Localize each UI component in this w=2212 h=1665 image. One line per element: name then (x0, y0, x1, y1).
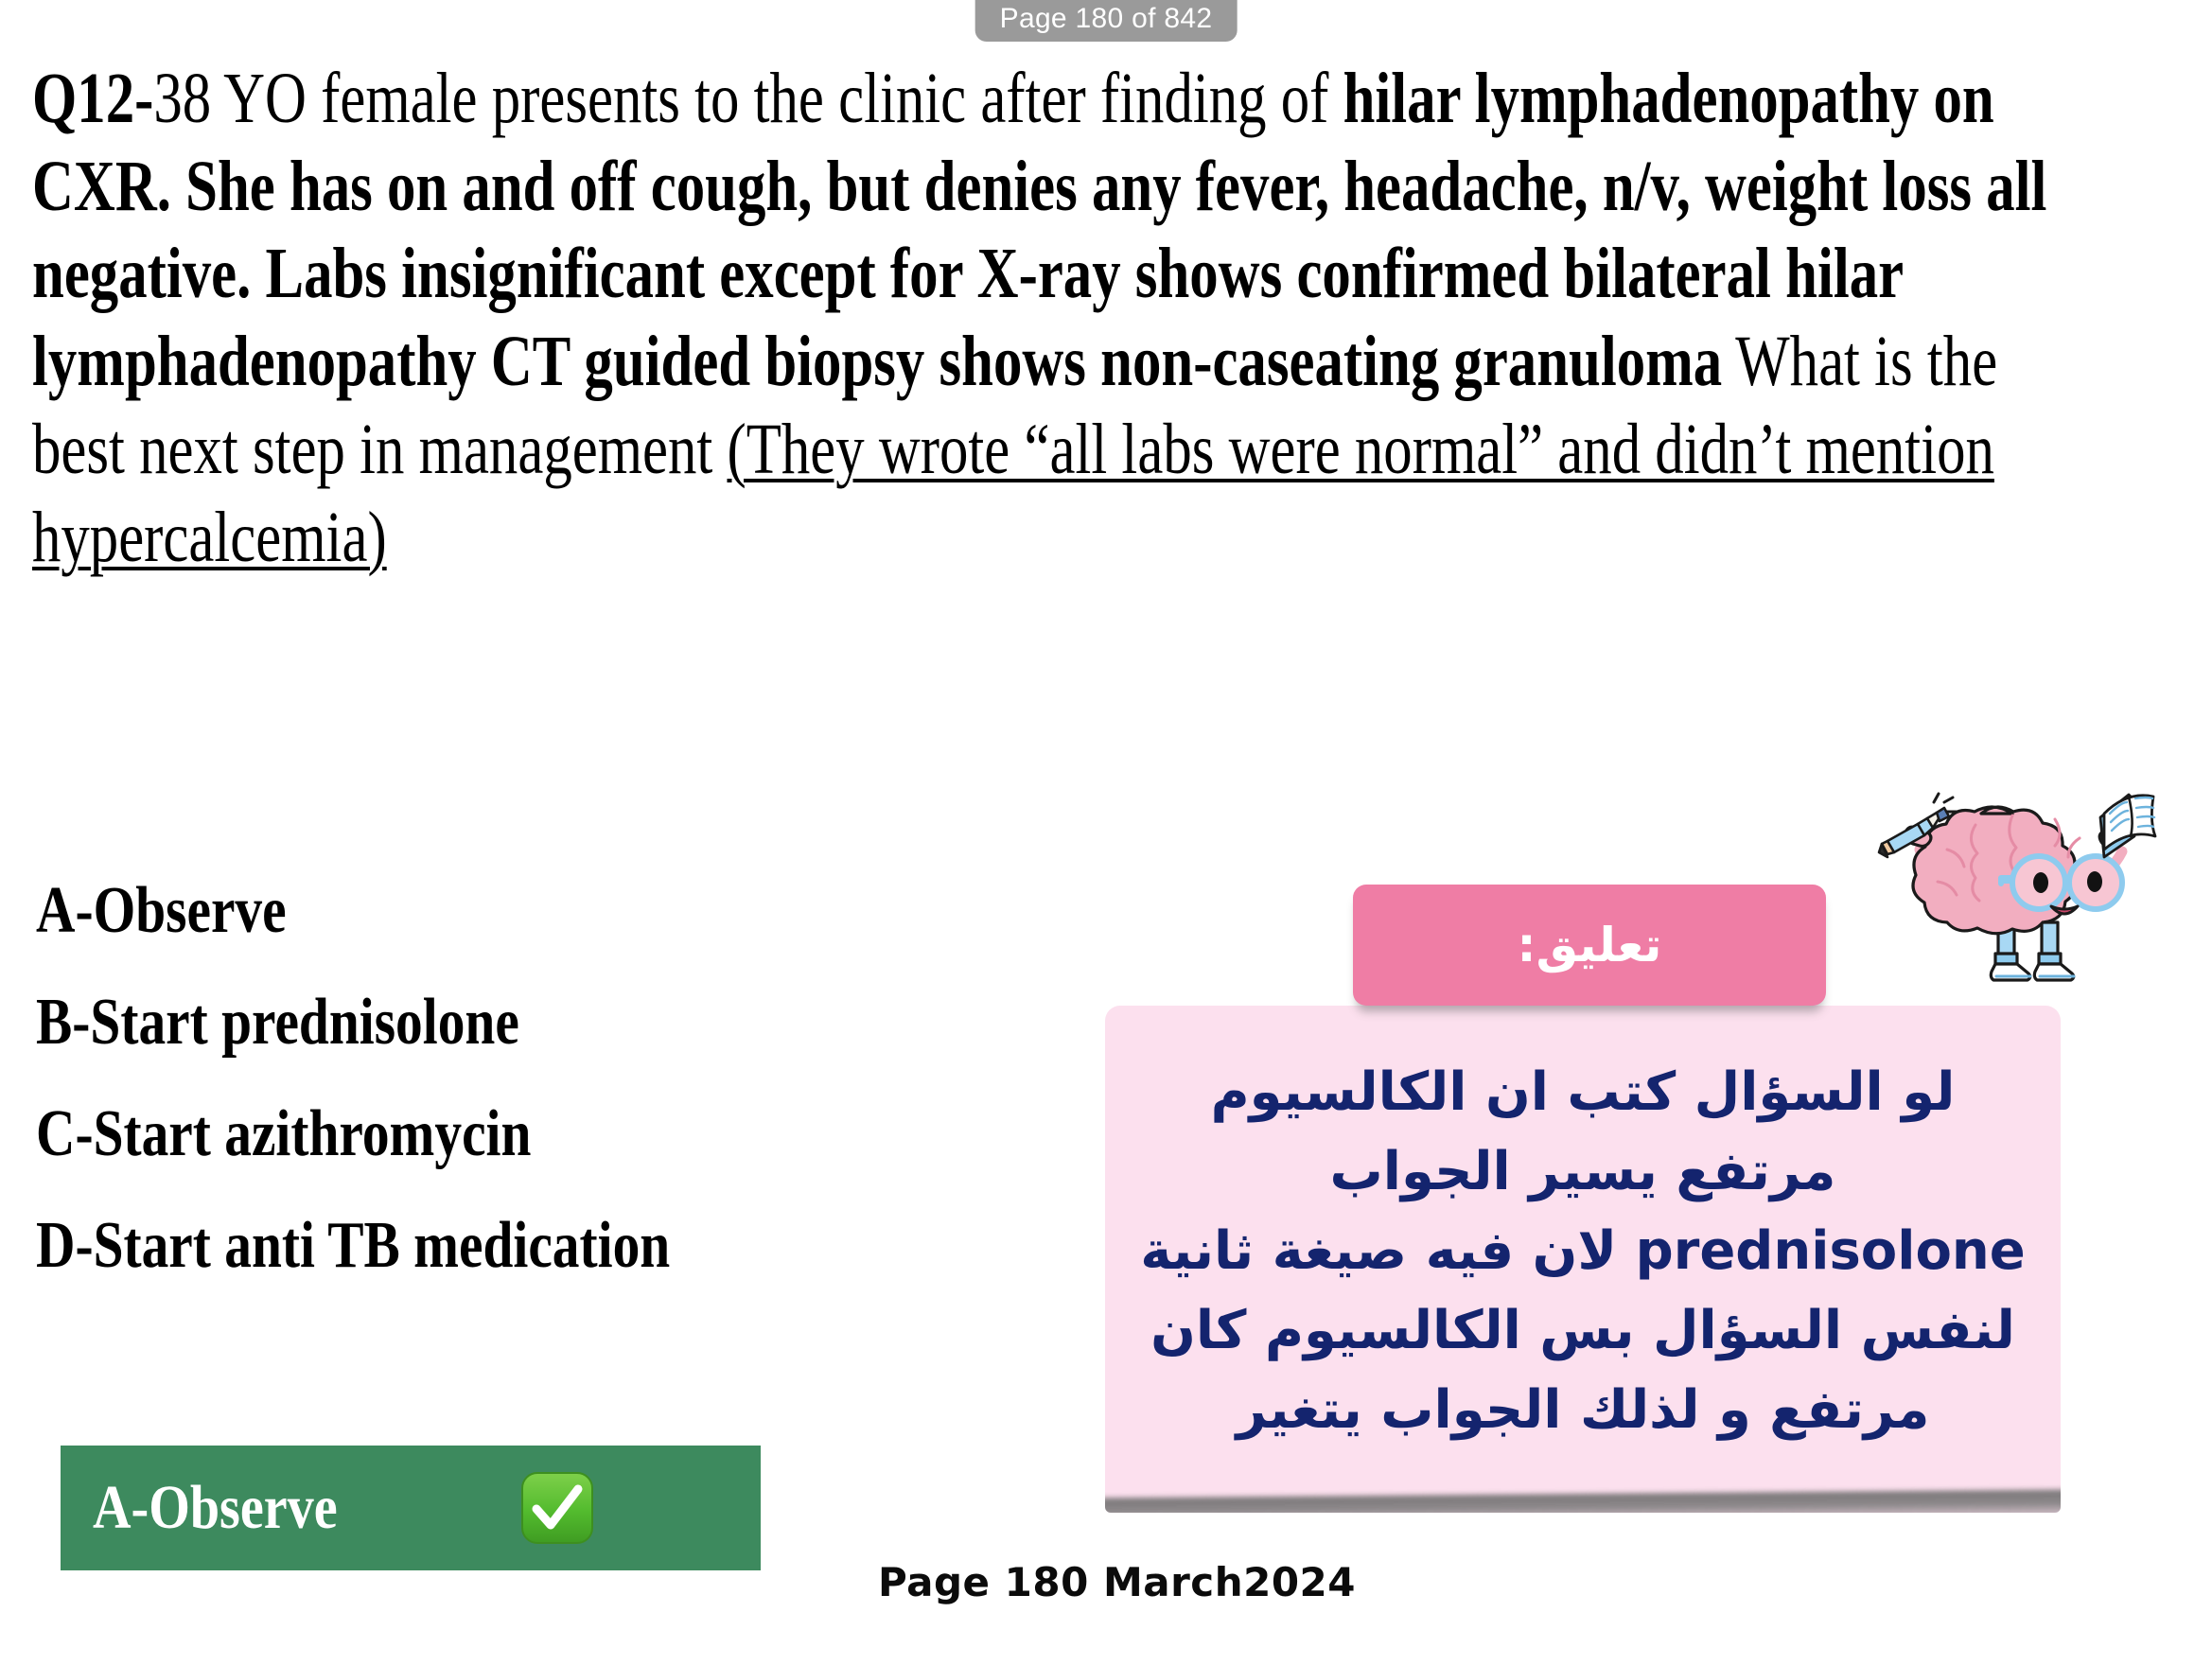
question-id: Q12- (32, 59, 153, 138)
comment-body-text: لو السؤال كتب ان الكالسيوم مرتفع يسير ال… (1130, 1053, 2036, 1450)
question-text: Q12-38 YO female presents to the clinic … (32, 55, 2085, 581)
answer-options-list: A-Observe B-Start prednisolone C-Start a… (36, 878, 670, 1324)
question-segment-regular-1: 38 YO female presents to the clinic afte… (153, 59, 1343, 138)
comment-widget: لو السؤال كتب ان الكالسيوم مرتفع يسير ال… (1105, 1006, 2061, 1513)
studying-brain-mascot-icon (1856, 768, 2168, 1005)
comment-header-label: تعليق: (1518, 921, 1662, 969)
white-heavy-check-mark-icon (520, 1471, 594, 1545)
option-a[interactable]: A-Observe (36, 878, 670, 944)
comment-body-card: لو السؤال كتب ان الكالسيوم مرتفع يسير ال… (1105, 1006, 2061, 1513)
footer-page-label: Page 180 March2024 (878, 1559, 1356, 1605)
option-c[interactable]: C-Start azithromycin (36, 1101, 670, 1167)
option-d[interactable]: D-Start anti TB medication (36, 1213, 670, 1279)
correct-answer-banner: A-Observe (61, 1446, 761, 1570)
comment-header-pill: تعليق: (1353, 885, 1826, 1006)
page-indicator-badge: Page 180 of 842 (975, 0, 1238, 42)
option-b[interactable]: B-Start prednisolone (36, 990, 670, 1056)
correct-answer-label: A-Observe (93, 1477, 338, 1539)
